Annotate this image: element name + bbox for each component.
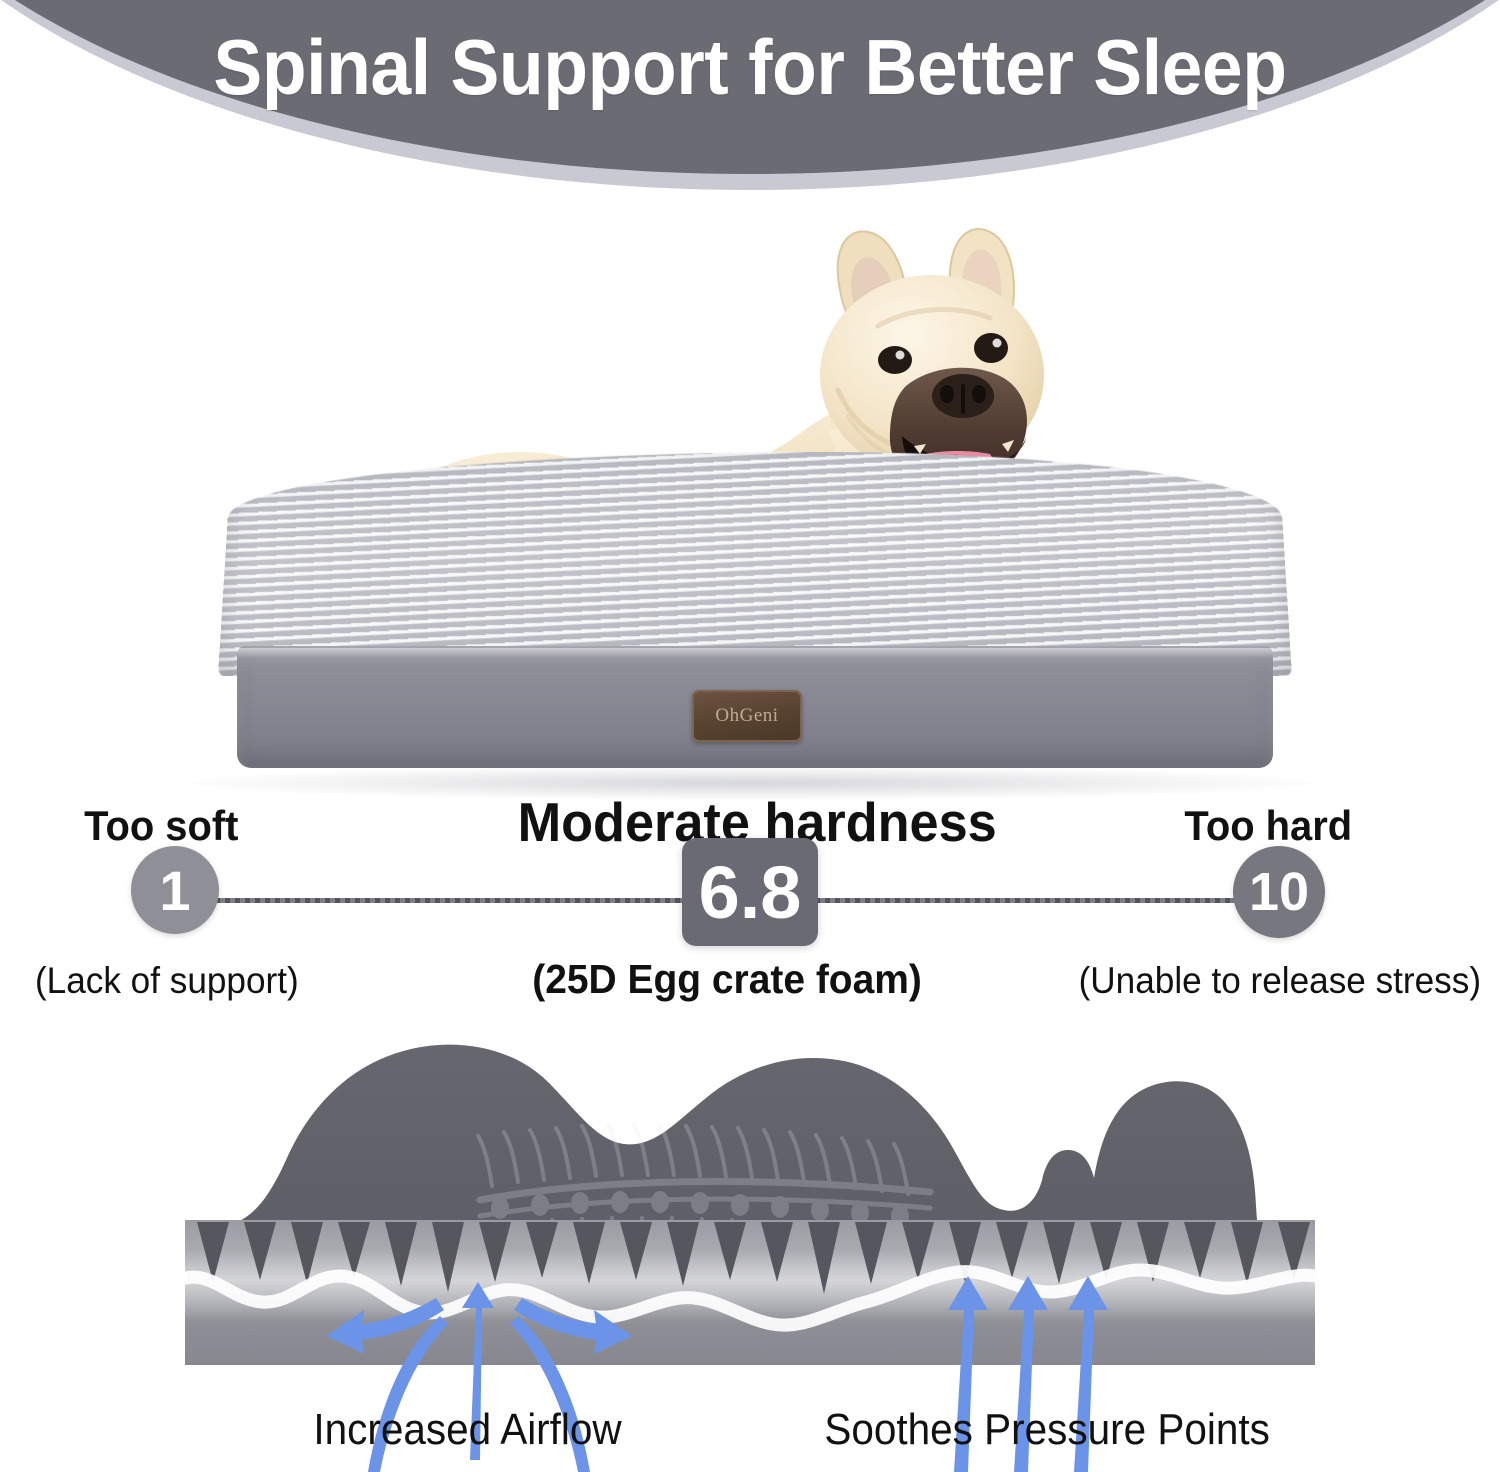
- scale-caption-left: (Lack of support): [35, 960, 299, 1002]
- header-banner: Spinal Support for Better Sleep: [0, 0, 1500, 215]
- bed-top-surface: [218, 452, 1292, 676]
- scale-node-min: 1: [131, 846, 219, 934]
- brand-logo-text: OhGeni: [715, 705, 778, 727]
- scale-caption-right: (Unable to release stress): [1079, 960, 1481, 1002]
- cross-section-diagram: [0, 1010, 1500, 1472]
- scale-caption-center: (25D Egg crate foam): [532, 956, 922, 1003]
- label-increased-airflow: Increased Airflow: [313, 1405, 621, 1455]
- page-title: Spinal Support for Better Sleep: [45, 22, 1455, 113]
- product-photo-area: OhGeni: [0, 200, 1500, 800]
- bed-side-panel: OhGeni: [237, 646, 1273, 768]
- scale-value-badge: 6.8: [682, 838, 818, 946]
- dog-bed-product: OhGeni: [215, 450, 1295, 780]
- scale-label-too-soft: Too soft: [84, 802, 238, 850]
- brand-logo-patch: OhGeni: [692, 690, 802, 742]
- scale-node-max: 10: [1233, 846, 1325, 938]
- scale-label-too-hard: Too hard: [1184, 802, 1352, 850]
- label-soothes-pressure-points: Soothes Pressure Points: [824, 1405, 1270, 1455]
- hardness-scale: Too soft Moderate hardness Too hard 1 6.…: [0, 780, 1500, 1005]
